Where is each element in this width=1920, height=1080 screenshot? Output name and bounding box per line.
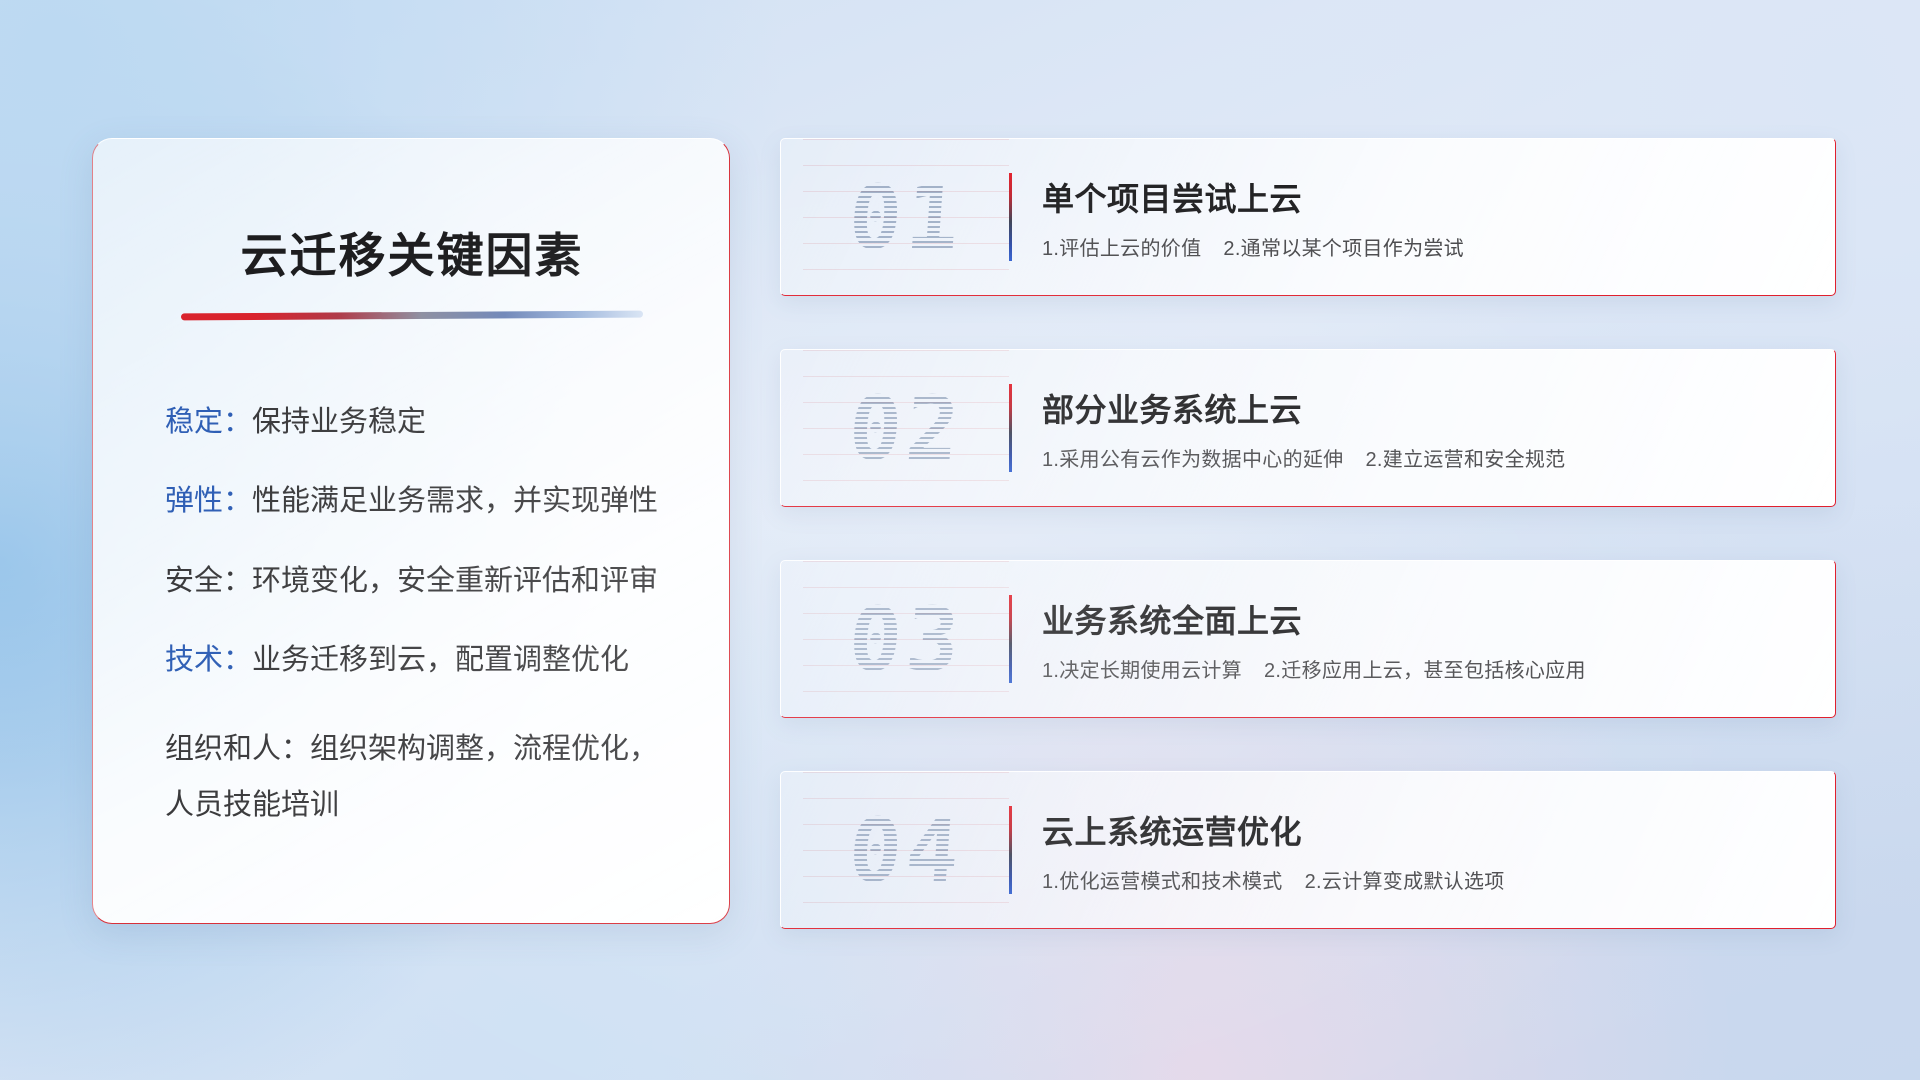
stage-point-2: 2.云计算变成默认选项 [1305, 871, 1505, 893]
stage-title: 云上系统运营优化 [1042, 807, 1807, 853]
stage-text-block: 单个项目尝试上云 1.评估上云的价值2.通常以某个项目作为尝试 [1042, 174, 1835, 261]
accent-divider [1009, 595, 1012, 683]
stage-number-text: 02 [845, 377, 966, 480]
fact-key: 弹性： [165, 485, 252, 517]
stage-point-2: 2.建立运营和安全规范 [1365, 449, 1565, 471]
list-item: 组织和人：组织架构调整，流程优化，人员技能培训 [165, 721, 683, 834]
accent-divider [1009, 806, 1012, 894]
stage-text-block: 部分业务系统上云 1.采用公有云作为数据中心的延伸2.建立运营和安全规范 [1042, 385, 1835, 472]
fact-value: 业务迁移到云，配置调整优化 [252, 644, 629, 676]
stage-number: 03 [803, 561, 1009, 717]
migration-stage-cards: 01 单个项目尝试上云 1.评估上云的价值2.通常以某个项目作为尝试 02 部分… [780, 138, 1836, 929]
stage-card[interactable]: 04 云上系统运营优化 1.优化运营模式和技术模式2.云计算变成默认选项 [780, 771, 1836, 929]
stage-card[interactable]: 01 单个项目尝试上云 1.评估上云的价值2.通常以某个项目作为尝试 [780, 138, 1836, 296]
stage-number-text: 04 [845, 799, 966, 902]
stage-subtitle: 1.采用公有云作为数据中心的延伸2.建立运营和安全规范 [1042, 443, 1807, 472]
stage-point-1: 1.评估上云的价值 [1042, 238, 1201, 260]
stage-title: 单个项目尝试上云 [1042, 174, 1807, 220]
stage-point-1: 1.优化运营模式和技术模式 [1042, 871, 1283, 893]
stage-point-2: 2.通常以某个项目作为尝试 [1223, 238, 1464, 260]
stage-subtitle: 1.优化运营模式和技术模式2.云计算变成默认选项 [1042, 865, 1807, 894]
stage-text-block: 业务系统全面上云 1.决定长期使用云计算2.迁移应用上云，甚至包括核心应用 [1042, 596, 1835, 683]
stage-number: 02 [803, 350, 1009, 506]
list-item: 安全：环境变化，安全重新评估和评审 [165, 562, 683, 601]
stage-point-1: 1.采用公有云作为数据中心的延伸 [1042, 449, 1343, 471]
fact-key: 组织和人： [165, 733, 310, 765]
key-factors-list: 稳定：保持业务稳定 弹性：性能满足业务需求，并实现弹性 安全：环境变化，安全重新… [141, 403, 683, 834]
list-item: 稳定：保持业务稳定 [165, 403, 683, 442]
stage-number: 01 [803, 139, 1009, 295]
stage-number-text: 01 [845, 166, 966, 269]
slide-canvas: 云迁移关键因素 稳定：保持业务稳定 弹性：性能满足业务需求，并实现弹性 安全：环… [0, 0, 1920, 1080]
fact-key: 安全： [165, 565, 252, 597]
stage-text-block: 云上系统运营优化 1.优化运营模式和技术模式2.云计算变成默认选项 [1042, 807, 1835, 894]
stage-subtitle: 1.评估上云的价值2.通常以某个项目作为尝试 [1042, 232, 1807, 261]
page-title: 云迁移关键因素 [141, 217, 683, 286]
stage-number-text: 03 [845, 588, 966, 691]
list-item: 技术：业务迁移到云，配置调整优化 [165, 641, 683, 680]
title-underline-rule [181, 311, 643, 321]
key-factors-panel: 云迁移关键因素 稳定：保持业务稳定 弹性：性能满足业务需求，并实现弹性 安全：环… [92, 138, 730, 924]
stage-point-1: 1.决定长期使用云计算 [1042, 660, 1242, 682]
stage-point-2: 2.迁移应用上云，甚至包括核心应用 [1264, 660, 1586, 682]
stage-card[interactable]: 03 业务系统全面上云 1.决定长期使用云计算2.迁移应用上云，甚至包括核心应用 [780, 560, 1836, 718]
stage-number: 04 [803, 772, 1009, 928]
fact-value: 环境变化，安全重新评估和评审 [252, 565, 658, 597]
fact-key: 技术： [165, 644, 252, 676]
fact-value: 保持业务稳定 [252, 406, 426, 438]
accent-divider [1009, 173, 1012, 261]
stage-subtitle: 1.决定长期使用云计算2.迁移应用上云，甚至包括核心应用 [1042, 654, 1807, 683]
stage-title: 业务系统全面上云 [1042, 596, 1807, 642]
fact-key: 稳定： [165, 406, 252, 438]
list-item: 弹性：性能满足业务需求，并实现弹性 [165, 482, 683, 521]
fact-value: 性能满足业务需求，并实现弹性 [252, 485, 658, 517]
stage-title: 部分业务系统上云 [1042, 385, 1807, 431]
stage-card[interactable]: 02 部分业务系统上云 1.采用公有云作为数据中心的延伸2.建立运营和安全规范 [780, 349, 1836, 507]
accent-divider [1009, 384, 1012, 472]
